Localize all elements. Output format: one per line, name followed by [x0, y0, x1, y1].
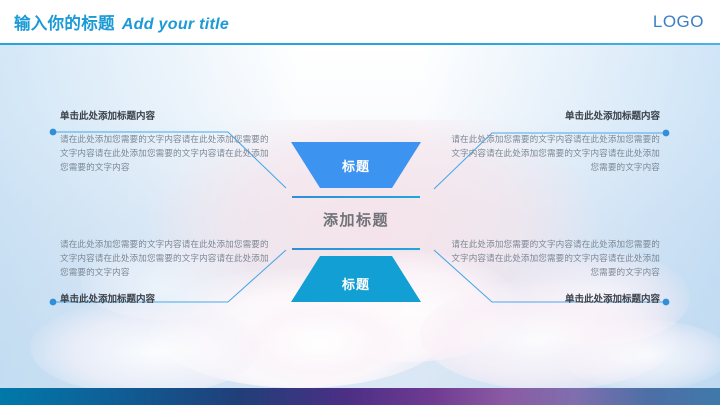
center-divider-bottom [292, 248, 420, 250]
trapezoid-bottom-label: 标题 [286, 274, 426, 293]
cloud-shape [30, 300, 260, 395]
slide-canvas: 输入你的标题Add your title LOGO 单击此处添加标题内容 请在此… [0, 0, 720, 405]
block-body: 请在此处添加您需要的文字内容请在此处添加您需要的文字内容请在此处添加您需要的文字… [60, 238, 275, 280]
text-block-bottom-right[interactable]: 请在此处添加您需要的文字内容请在此处添加您需要的文字内容请在此处添加您需要的文字… [445, 238, 660, 305]
logo: LOGO [653, 12, 704, 32]
block-title: 单击此处添加标题内容 [60, 291, 275, 305]
slide-header: 输入你的标题Add your title LOGO [0, 0, 720, 44]
block-body: 请在此处添加您需要的文字内容请在此处添加您需要的文字内容请在此处添加您需要的文字… [445, 238, 660, 280]
header-divider [0, 43, 720, 45]
cloud-shape [560, 320, 720, 390]
trapezoid-top[interactable]: 标题 [286, 142, 426, 188]
center-title-group[interactable]: 添加标题 [292, 196, 420, 250]
footer-bar [0, 388, 720, 405]
trapezoid-top-label: 标题 [286, 156, 426, 175]
text-block-top-left[interactable]: 单击此处添加标题内容 请在此处添加您需要的文字内容请在此处添加您需要的文字内容请… [60, 108, 275, 175]
center-title: 添加标题 [292, 209, 420, 230]
page-title-en: Add your title [122, 16, 229, 33]
page-title-cn: 输入你的标题 [14, 15, 115, 33]
text-block-top-right[interactable]: 单击此处添加标题内容 请在此处添加您需要的文字内容请在此处添加您需要的文字内容请… [445, 108, 660, 175]
trapezoid-bottom[interactable]: 标题 [286, 256, 426, 302]
block-title: 单击此处添加标题内容 [445, 108, 660, 122]
block-body: 请在此处添加您需要的文字内容请在此处添加您需要的文字内容请在此处添加您需要的文字… [445, 133, 660, 175]
block-title: 单击此处添加标题内容 [60, 108, 275, 122]
page-title: 输入你的标题Add your title [14, 10, 229, 34]
block-body: 请在此处添加您需要的文字内容请在此处添加您需要的文字内容请在此处添加您需要的文字… [60, 133, 275, 175]
center-divider-top [292, 196, 420, 198]
block-title: 单击此处添加标题内容 [445, 291, 660, 305]
text-block-bottom-left[interactable]: 请在此处添加您需要的文字内容请在此处添加您需要的文字内容请在此处添加您需要的文字… [60, 238, 275, 305]
cloud-shape [235, 300, 405, 385]
